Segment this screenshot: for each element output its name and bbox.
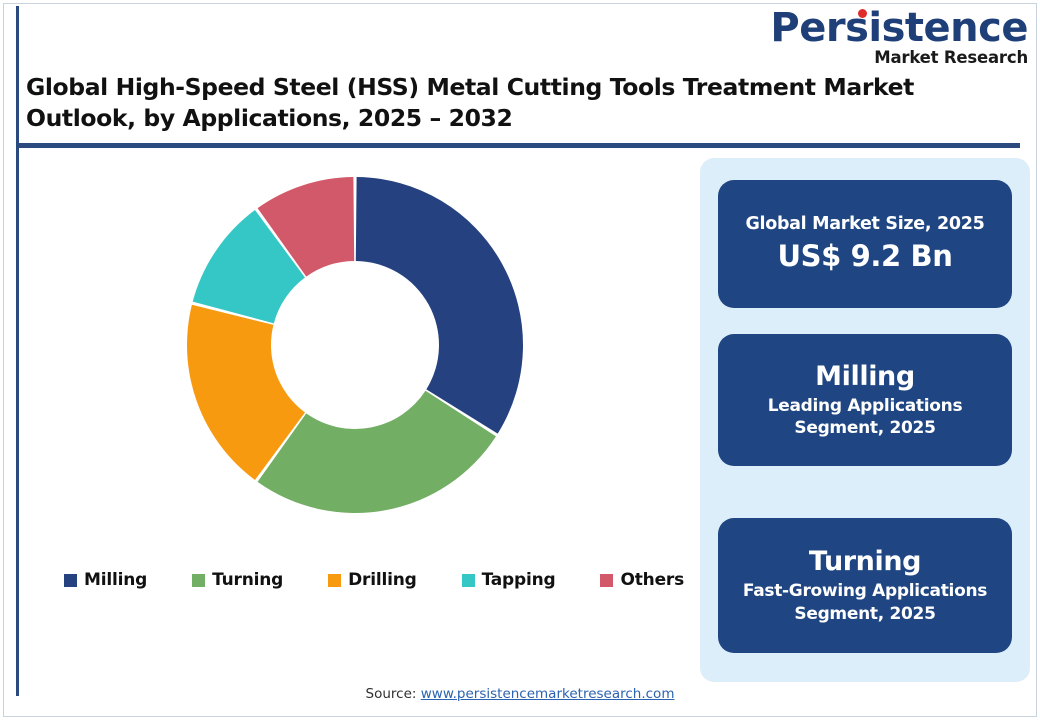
legend-label: Milling: [84, 570, 147, 590]
legend-swatch-icon: [328, 574, 341, 587]
legend-item-turning[interactable]: Turning: [192, 570, 283, 590]
brand-tagline: Market Research: [770, 50, 1028, 67]
highlights-panel: Global Market Size, 2025 US$ 9.2 Bn Mill…: [700, 158, 1030, 682]
legend-swatch-icon: [64, 574, 77, 587]
donut-slice-milling[interactable]: [356, 177, 523, 434]
legend-item-milling[interactable]: Milling: [64, 570, 147, 590]
legend-item-others[interactable]: Others: [600, 570, 684, 590]
market-size-value: US$ 9.2 Bn: [778, 239, 953, 274]
source-label: Source:: [366, 686, 421, 702]
infographic-page: Persistence Market Research Global High-…: [0, 0, 1040, 720]
donut-chart: [182, 172, 528, 518]
legend-label: Tapping: [482, 570, 556, 590]
left-accent-bar: [16, 6, 19, 696]
brand-name-text: Persistence: [770, 5, 1028, 51]
legend-item-tapping[interactable]: Tapping: [462, 570, 556, 590]
donut-chart-svg: [182, 172, 528, 518]
market-size-card: Global Market Size, 2025 US$ 9.2 Bn: [718, 180, 1012, 308]
legend-swatch-icon: [600, 574, 613, 587]
legend-label: Drilling: [348, 570, 416, 590]
donut-slices: [187, 177, 523, 513]
legend-swatch-icon: [192, 574, 205, 587]
source-link[interactable]: www.persistencemarketresearch.com: [421, 686, 675, 702]
leading-segment-line2: Segment, 2025: [794, 417, 935, 439]
leading-segment-line1: Leading Applications: [768, 395, 963, 417]
leading-segment-name: Milling: [815, 361, 915, 392]
legend-label: Others: [620, 570, 684, 590]
fast-growing-segment-line2: Segment, 2025: [794, 603, 935, 625]
chart-legend: MillingTurningDrillingTappingOthers: [64, 570, 684, 590]
legend-label: Turning: [212, 570, 283, 590]
brand-name: Persistence: [770, 8, 1028, 48]
legend-swatch-icon: [462, 574, 475, 587]
source-footer: Source: www.persistencemarketresearch.co…: [0, 686, 1040, 702]
fast-growing-segment-name: Turning: [809, 546, 921, 577]
chart-area: MillingTurningDrillingTappingOthers: [20, 152, 680, 652]
brand-logo: Persistence Market Research: [770, 8, 1028, 67]
fast-growing-segment-line1: Fast-Growing Applications: [743, 580, 987, 602]
market-size-label: Global Market Size, 2025: [745, 214, 984, 236]
page-title: Global High-Speed Steel (HSS) Metal Cutt…: [26, 72, 956, 133]
title-divider: [18, 143, 1020, 148]
fast-growing-segment-card: Turning Fast-Growing Applications Segmen…: [718, 518, 1012, 653]
leading-segment-card: Milling Leading Applications Segment, 20…: [718, 334, 1012, 466]
legend-item-drilling[interactable]: Drilling: [328, 570, 416, 590]
